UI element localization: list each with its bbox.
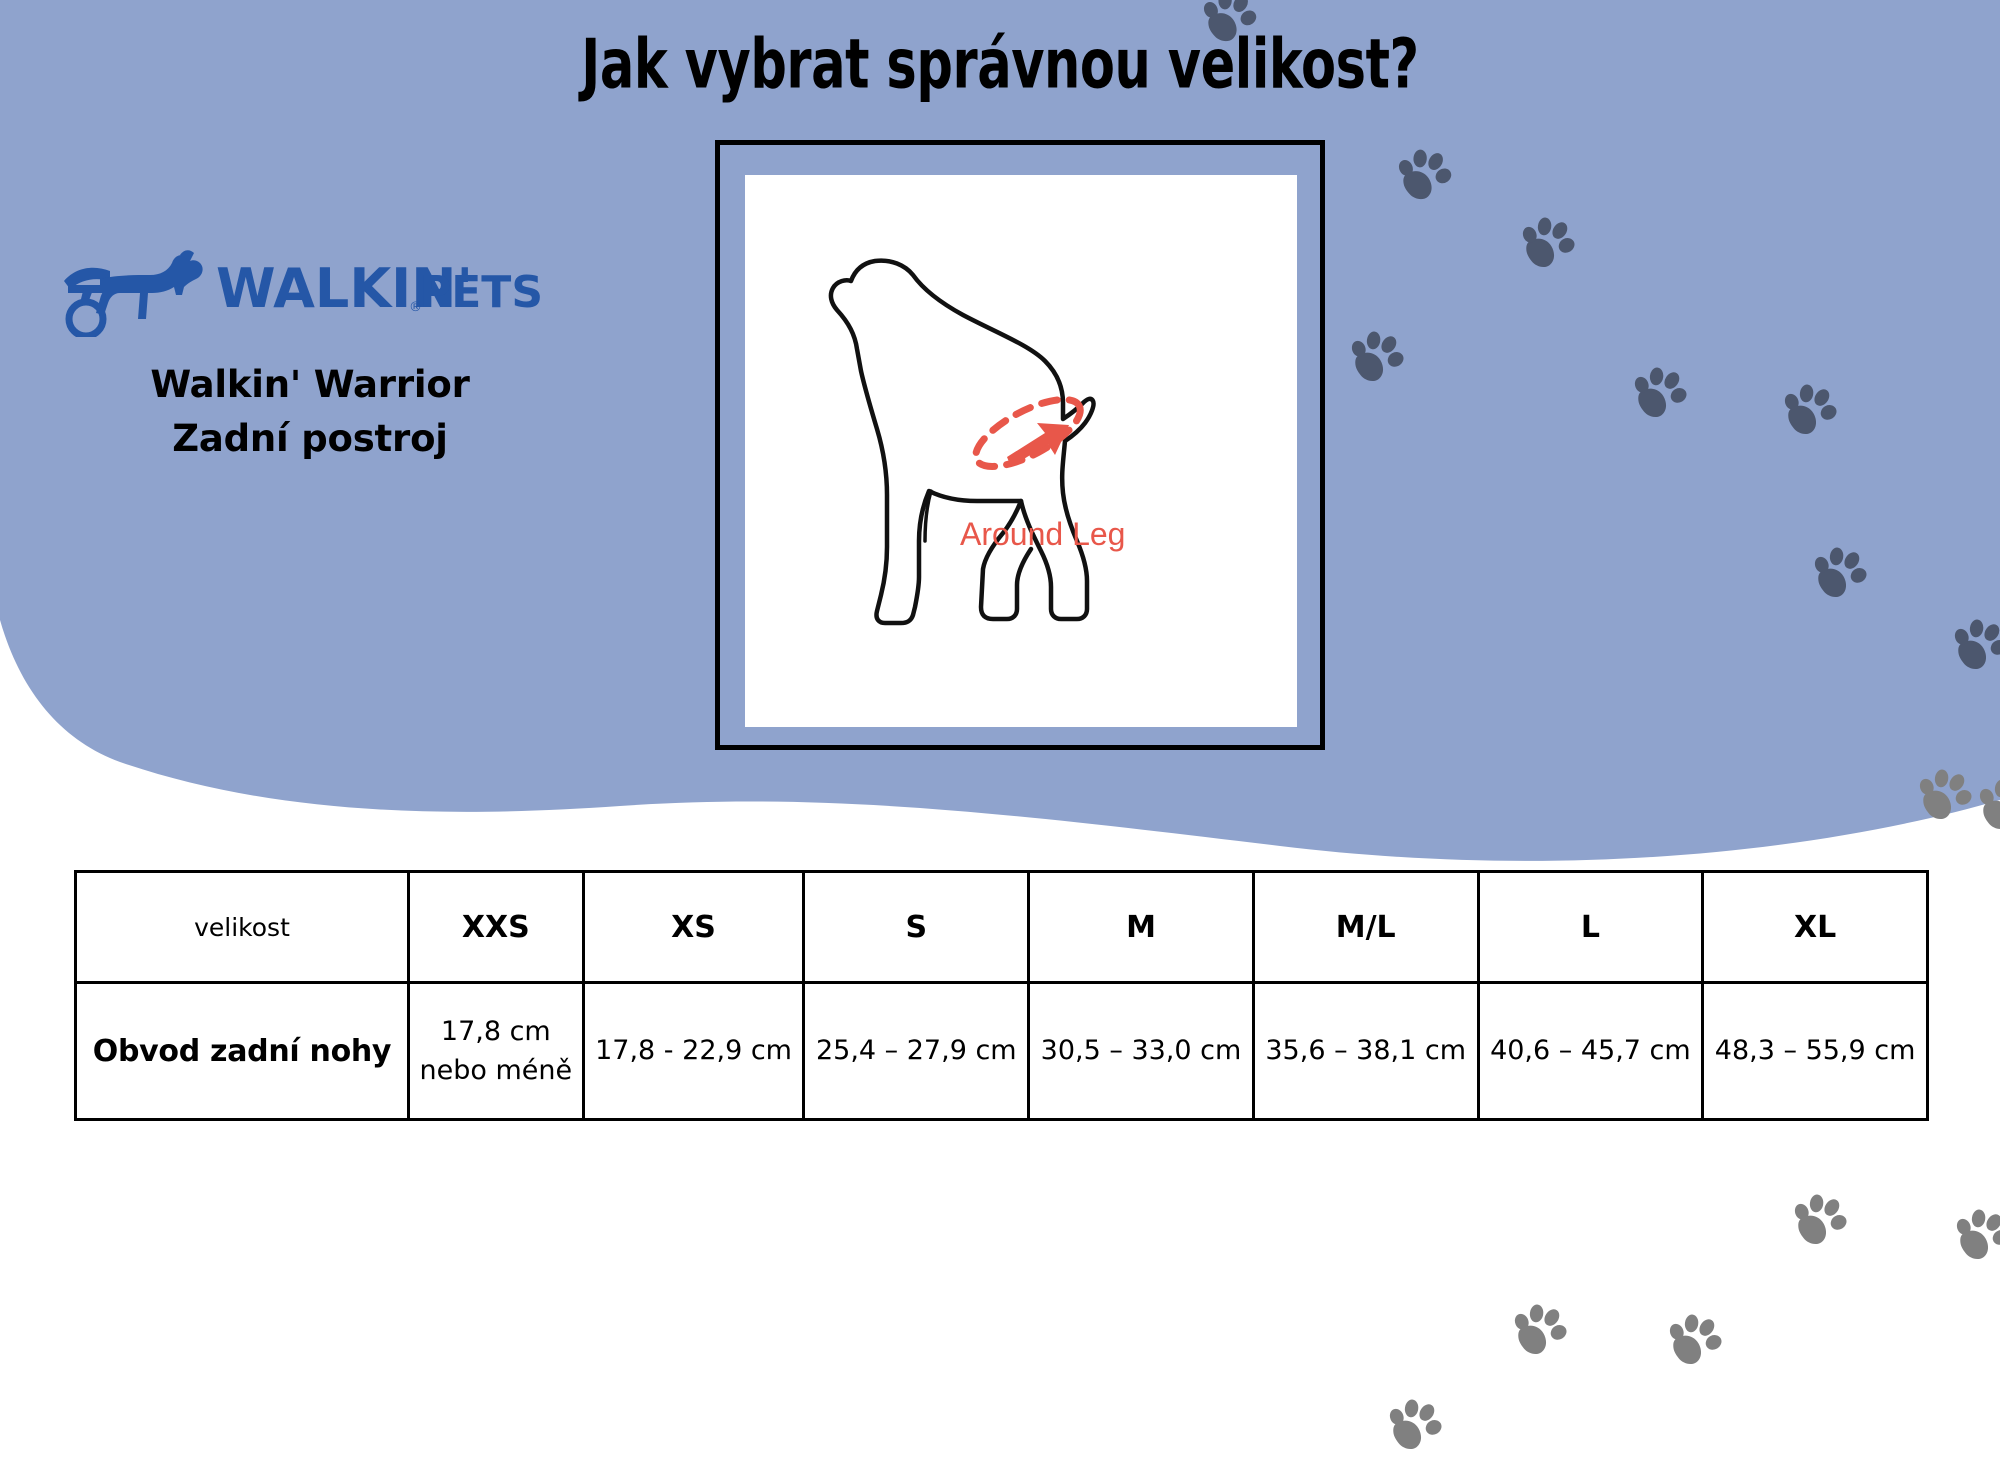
dog-side-profile-outline [745, 175, 1297, 727]
table-header-size-xs: XS [583, 872, 804, 983]
table-cell-measurement: 17,8 cmnebo méně [409, 983, 584, 1120]
walkin-pets-wordmark: WALKIN' PETS ® [216, 253, 566, 325]
table-header-row-label: velikost [76, 872, 409, 983]
walkin-pets-logo: WALKIN' PETS ® [60, 240, 560, 338]
table-header-size-xxs: XXS [409, 872, 584, 983]
product-name-line-2: Zadní postroj [60, 412, 560, 466]
walking-dog-wheelchair-icon [60, 241, 210, 337]
table-header-size-l: L [1478, 872, 1703, 983]
logo-word-pets: PETS [419, 267, 543, 318]
table-header-size-m: M [1029, 872, 1254, 983]
table-header-row: velikostXXSXSSMM/LLXL [76, 872, 1928, 983]
table-header-size-m-l: M/L [1253, 872, 1478, 983]
table-header-size-s: S [804, 872, 1029, 983]
table-cell-measurement: 48,3 – 55,9 cm [1703, 983, 1928, 1120]
product-name-block: Walkin' Warrior Zadní postroj [60, 358, 560, 465]
product-name-line-1: Walkin' Warrior [60, 358, 560, 412]
table-row-label: Obvod zadní nohy [76, 983, 409, 1120]
around-leg-label: Around Leg [960, 516, 1125, 553]
page-title: Jak vybrat správnou velikost? [120, 24, 1880, 104]
size-chart-table: velikostXXSXSSMM/LLXLObvod zadní nohy17,… [74, 870, 1929, 1121]
table-cell-measurement: 25,4 – 27,9 cm [804, 983, 1029, 1120]
table-cell-measurement: 40,6 – 45,7 cm [1478, 983, 1703, 1120]
table-cell-measurement: 17,8 - 22,9 cm [583, 983, 804, 1120]
table-row: Obvod zadní nohy17,8 cmnebo méně17,8 - 2… [76, 983, 1928, 1120]
table-cell-measurement: 30,5 – 33,0 cm [1029, 983, 1254, 1120]
brand-block: WALKIN' PETS ® Walkin' Warrior Zadní pos… [60, 240, 560, 465]
table-cell-measurement: 35,6 – 38,1 cm [1253, 983, 1478, 1120]
logo-registered-mark: ® [409, 300, 422, 315]
poster-canvas: Jak vybrat správnou velikost? WALKIN' PE… [0, 0, 2000, 1414]
table-header-size-xl: XL [1703, 872, 1928, 983]
